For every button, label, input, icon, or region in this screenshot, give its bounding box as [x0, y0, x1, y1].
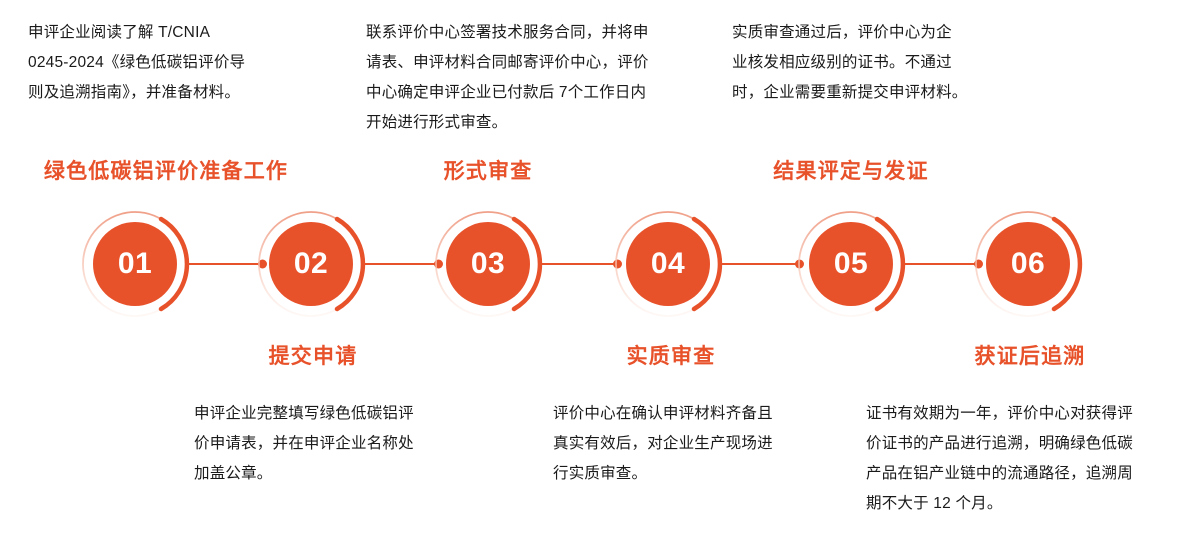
- step-node-03[interactable]: 03: [428, 204, 548, 324]
- step-node-04[interactable]: 04: [608, 204, 728, 324]
- step-heading-06: 获证后追溯: [975, 340, 1086, 370]
- step-description-02: 申评企业完整填写绿色低碳铝评 价申请表，并在申评企业名称处 加盖公章。: [194, 399, 504, 489]
- step-description-03: 联系评价中心签署技术服务合同，并将申 请表、申评材料合同邮寄评价中心，评价 中心…: [366, 18, 696, 138]
- connector-line: [539, 263, 619, 265]
- step-heading-02: 提交申请: [269, 340, 358, 370]
- step-description-04: 评价中心在确认申评材料齐备且 真实有效后，对企业生产现场进 行实质审查。: [553, 399, 863, 489]
- step-node-06[interactable]: 06: [968, 204, 1088, 324]
- step-node-05[interactable]: 05: [791, 204, 911, 324]
- step-description-06: 证书有效期为一年，评价中心对获得评 价证书的产品进行追溯，明确绿色低碳 产品在铝…: [866, 399, 1186, 519]
- step-heading-03: 形式审查: [444, 155, 533, 185]
- infographic-canvas: 申评企业阅读了解 T/CNIA 0245-2024《绿色低碳铝评价导 则及追溯指…: [0, 0, 1188, 536]
- node-fill: [269, 222, 353, 306]
- step-node-02[interactable]: 02: [251, 204, 371, 324]
- node-fill: [626, 222, 710, 306]
- step-description-01: 申评企业阅读了解 T/CNIA 0245-2024《绿色低碳铝评价导 则及追溯指…: [28, 18, 348, 108]
- connector-line: [719, 263, 801, 265]
- node-fill: [93, 222, 177, 306]
- step-node-01[interactable]: 01: [75, 204, 195, 324]
- connector-03-04: [539, 258, 619, 270]
- step-heading-05: 结果评定与发证: [773, 155, 928, 185]
- node-fill: [809, 222, 893, 306]
- node-fill: [986, 222, 1070, 306]
- connector-04-05: [719, 258, 801, 270]
- step-heading-01: 绿色低碳铝评价准备工作: [44, 155, 288, 185]
- node-fill: [446, 222, 530, 306]
- step-description-05: 实质审查通过后，评价中心为企 业核发相应级别的证书。不通过 时，企业需要重新提交…: [732, 18, 1042, 108]
- step-heading-04: 实质审查: [627, 340, 716, 370]
